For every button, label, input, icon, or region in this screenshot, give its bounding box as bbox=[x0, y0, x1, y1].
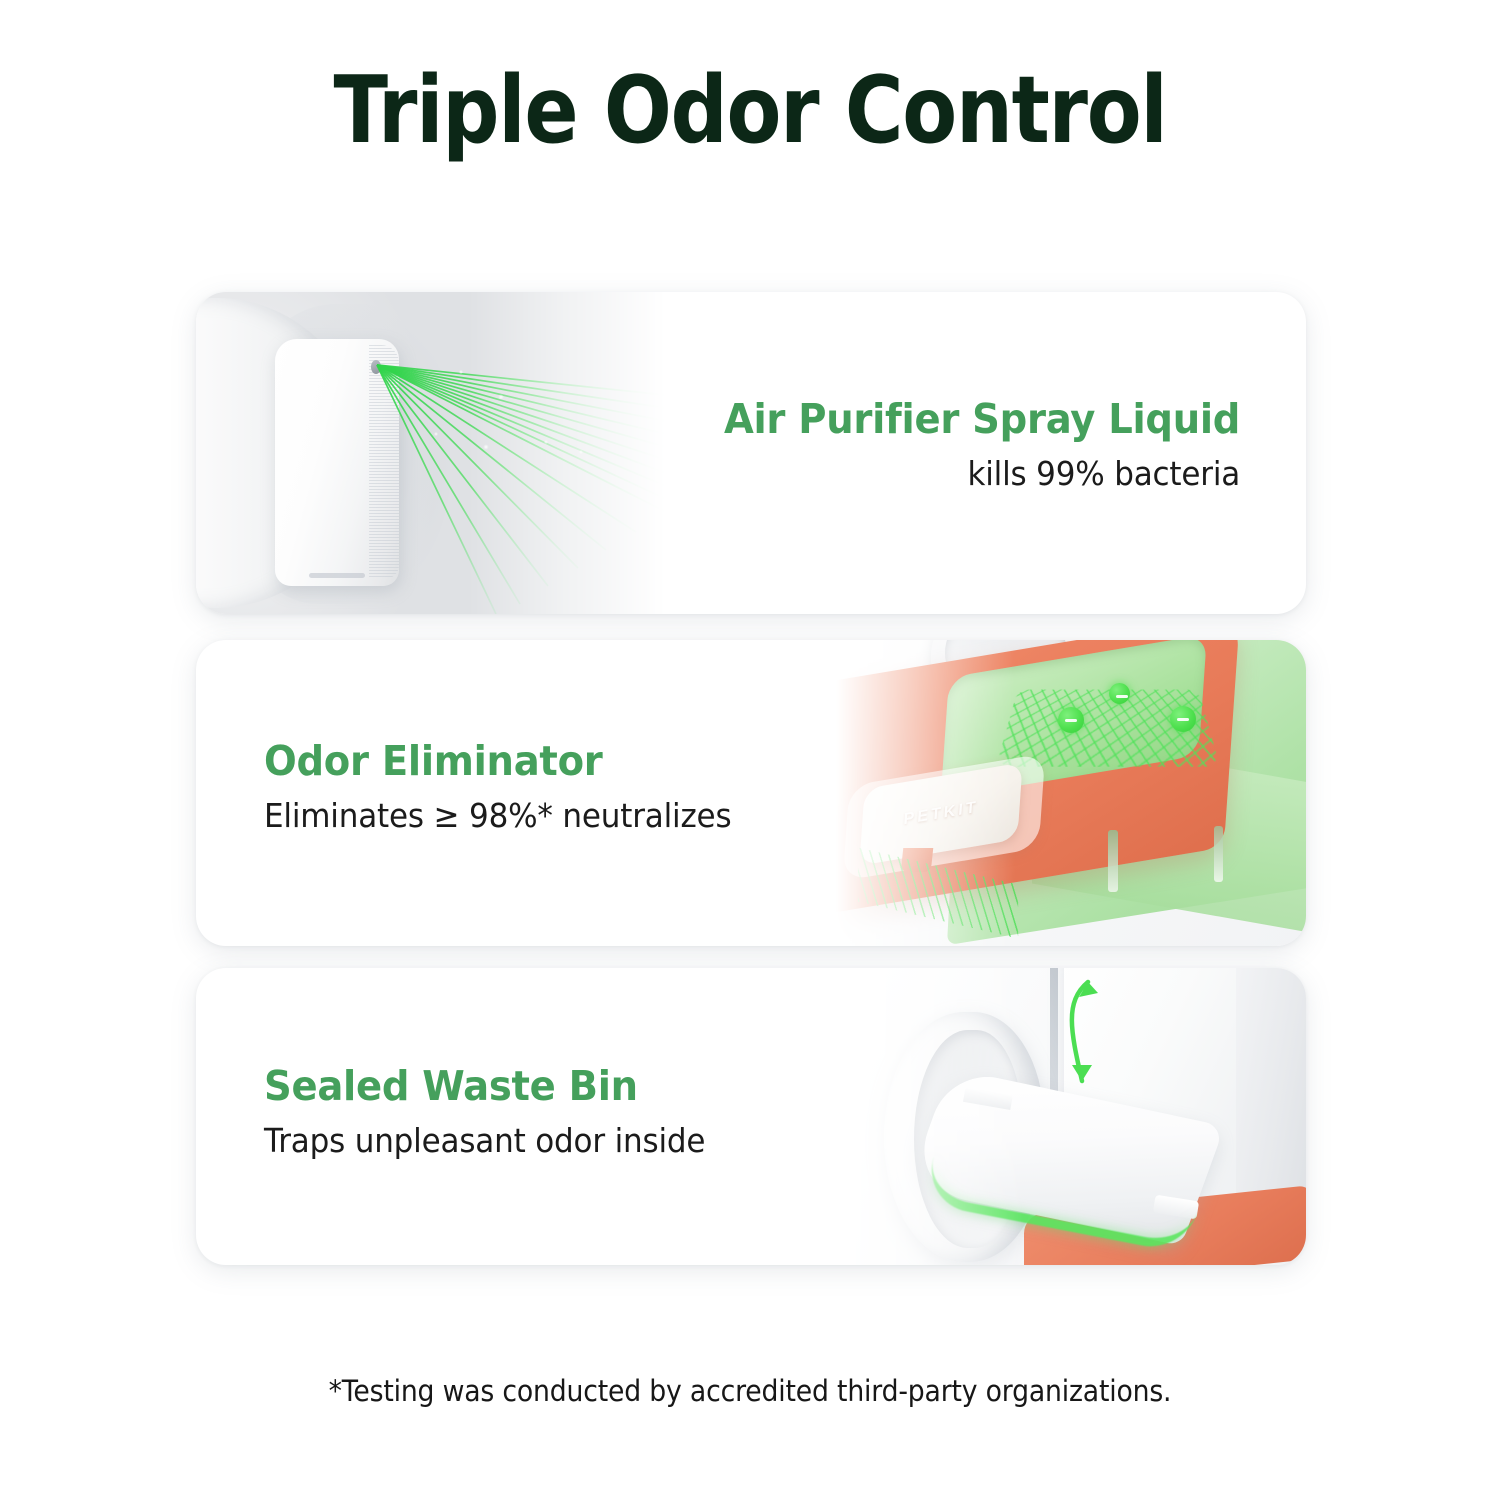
odor-minus-badge-icon bbox=[1170, 706, 1196, 732]
feature-card-odor-eliminator: Odor Eliminator Eliminates ≥ 98%* neutra… bbox=[196, 640, 1306, 946]
feature-card-sealed-waste-bin: Sealed Waste Bin Traps unpleasant odor i… bbox=[196, 968, 1306, 1265]
flap-motion-arrow-icon bbox=[836, 968, 1306, 1265]
feature-title-odor-eliminator: Odor Eliminator bbox=[264, 738, 731, 785]
odor-eliminator-illustration: PETKIT bbox=[836, 640, 1306, 946]
feature-card-air-purifier: Air Purifier Spray Liquid kills 99% bact… bbox=[196, 292, 1306, 614]
feature-title-air-purifier: Air Purifier Spray Liquid bbox=[724, 396, 1240, 443]
feature-title-sealed-waste-bin: Sealed Waste Bin bbox=[264, 1063, 705, 1110]
air-purifier-text-block: Air Purifier Spray Liquid kills 99% bact… bbox=[691, 396, 1240, 496]
odor-minus-badge-icon bbox=[1058, 707, 1084, 733]
feature-subtitle-air-purifier: kills 99% bacteria bbox=[724, 453, 1240, 496]
odor-eliminator-text-block: Odor Eliminator Eliminates ≥ 98%* neutra… bbox=[264, 738, 761, 838]
footnote-text: *Testing was conducted by accredited thi… bbox=[60, 1374, 1440, 1408]
sealed-waste-bin-text-block: Sealed Waste Bin Traps unpleasant odor i… bbox=[264, 1063, 733, 1163]
marketing-infographic: Triple Odor Control bbox=[0, 0, 1500, 1500]
mist-droplets-icon bbox=[366, 352, 666, 602]
cartridge-brand-label: PETKIT bbox=[861, 792, 1020, 837]
page-title: Triple Odor Control bbox=[105, 62, 1395, 160]
feature-subtitle-sealed-waste-bin: Traps unpleasant odor inside bbox=[264, 1120, 705, 1163]
sealed-waste-bin-illustration bbox=[836, 968, 1306, 1265]
feature-subtitle-odor-eliminator: Eliminates ≥ 98%* neutralizes bbox=[264, 795, 731, 838]
odor-minus-badge-icon bbox=[1109, 683, 1130, 704]
bin-post-left bbox=[1108, 830, 1118, 892]
air-purifier-illustration bbox=[196, 292, 666, 614]
bin-post-right bbox=[1214, 826, 1223, 882]
